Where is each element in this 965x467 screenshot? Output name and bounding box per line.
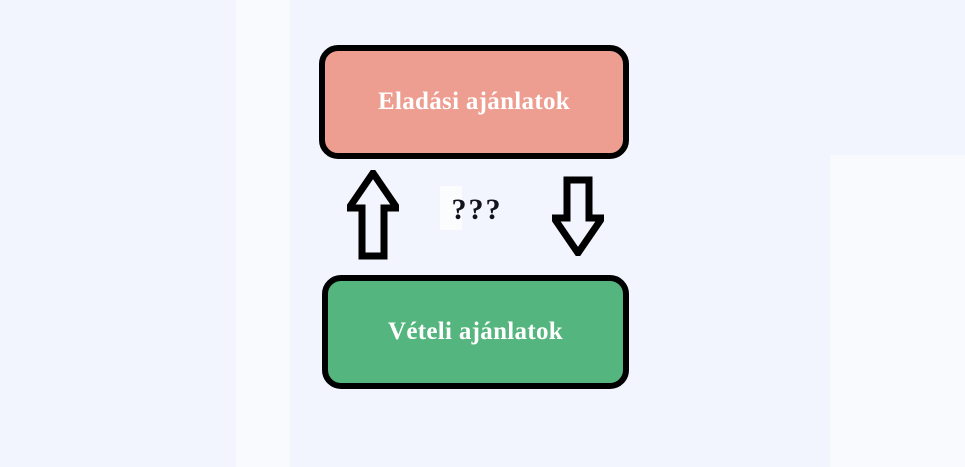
center-question-label: ??? <box>447 192 507 228</box>
center-question-text: ??? <box>452 193 503 227</box>
node-buy-offers[interactable]: Vételi ajánlatok <box>322 275 629 389</box>
background-band-right <box>830 155 965 467</box>
arrow-up-outline-icon <box>347 170 399 260</box>
node-buy-offers-label: Vételi ajánlatok <box>388 318 563 346</box>
background-band-left <box>236 0 290 467</box>
node-sell-offers-label: Eladási ajánlatok <box>378 88 570 116</box>
diagram-canvas: Eladási ajánlatok ??? Vételi ajánlatok <box>0 0 965 467</box>
node-sell-offers[interactable]: Eladási ajánlatok <box>319 45 629 159</box>
arrow-down-outline-icon <box>552 176 604 256</box>
